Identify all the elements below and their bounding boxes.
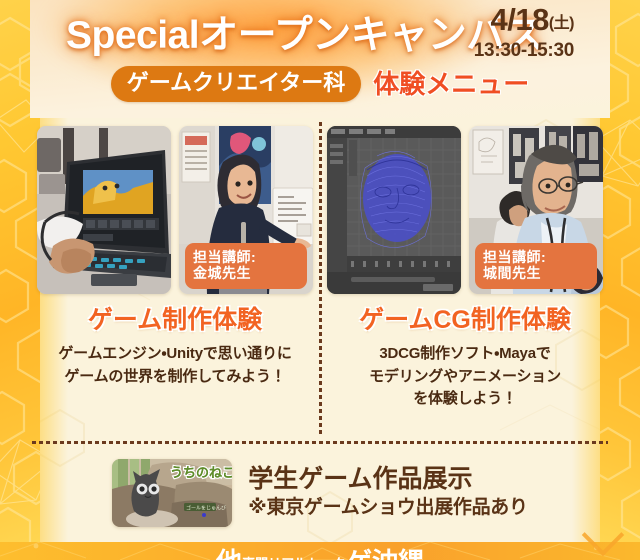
teacher-label-left: 担当講師: xyxy=(193,249,303,266)
cat-game-screenshot: うちのねこ うちのねこ ゴールをじゅんび xyxy=(112,459,232,527)
experience-cards: 担当講師: 金城先生 ゲーム制作体験 ゲームエンジン・Unityで思い通りに ゲ… xyxy=(30,120,610,438)
teacher-badge-left: 担当講師: 金城先生 xyxy=(185,243,307,289)
exhibit-text-block: 学生ゲーム作品展示 ※東京ゲームショウ出展作品あり xyxy=(248,466,527,520)
department-badge: ゲームクリエイター科 xyxy=(111,66,361,102)
event-date: 4/18(土) xyxy=(474,4,574,35)
laptop-game-editing-photo xyxy=(37,126,171,294)
exhibit-subtitle: ※東京ゲームショウ出展作品あり xyxy=(248,497,527,520)
event-day-of-week: (土) xyxy=(549,15,574,32)
card-game-cg-production: 担当講師: 城間先生 ゲームCG制作体験 3DCG制作ソフト・Mayaで モデリ… xyxy=(320,120,610,438)
card-desc-right-line3: を体験しよう！ xyxy=(369,388,561,411)
teacher-name-left: 金城先生 xyxy=(193,265,303,282)
bottom-orange-bar: 他専門リアルトークゲ沖縄 xyxy=(0,542,640,560)
card-title-left: ゲーム制作体験 xyxy=(88,308,262,333)
svg-text:ゴールをじゅんび: ゴールをじゅんび xyxy=(186,505,226,512)
instructor-kinjo-photo: 担当講師: 金城先生 xyxy=(179,126,313,294)
poster-root: Specialオープンキャンパス 4/18(土) 13:30-15:30 ゲーム… xyxy=(0,0,640,560)
card-desc-left-line1: ゲームエンジン・Unityで思い通りに xyxy=(58,343,291,366)
card-desc-left: ゲームエンジン・Unityで思い通りに ゲームの世界を制作してみよう！ xyxy=(58,343,291,388)
event-time: 13:30-15:30 xyxy=(474,40,574,62)
card-photo-group-left: 担当講師: 金城先生 xyxy=(37,126,313,294)
card-desc-right-line2: モデリングやアニメーション xyxy=(369,366,561,389)
maya-wireframe-head-photo xyxy=(327,126,461,294)
bottom-bar-text: 他専門リアルトークゲ沖縄 xyxy=(0,542,640,560)
student-exhibit-row: うちのねこ うちのねこ ゴールをじゅんび 学生ゲーム作品展示 ※東京ゲームショウ… xyxy=(30,452,610,534)
card-game-production: 担当講師: 金城先生 ゲーム制作体験 ゲームエンジン・Unityで思い通りに ゲ… xyxy=(30,120,320,438)
poster-header: Specialオープンキャンパス 4/18(土) 13:30-15:30 ゲーム… xyxy=(30,0,610,118)
horizontal-dotted-divider xyxy=(32,441,608,444)
svg-text:うちのねこ: うちのねこ xyxy=(170,466,232,481)
menu-heading: 体験メニュー xyxy=(373,71,529,97)
bottom-bar-text-tail: ゲ沖縄 xyxy=(346,547,424,560)
bottom-bar-text-main: 他 xyxy=(216,547,242,560)
teacher-name-right: 城間先生 xyxy=(483,265,593,282)
bottom-bar-text-small: 専門リアルトーク xyxy=(242,556,346,560)
card-title-right: ゲームCG制作体験 xyxy=(359,308,571,333)
instructor-shiroma-photo: 担当講師: 城間先生 xyxy=(469,126,603,294)
teacher-badge-right: 担当講師: 城間先生 xyxy=(475,243,597,289)
card-desc-right: 3DCG制作ソフト・Mayaで モデリングやアニメーション を体験しよう！ xyxy=(369,343,561,411)
card-photo-group-right: 担当講師: 城間先生 xyxy=(327,126,603,294)
page-title: Specialオープンキャンパス xyxy=(66,4,543,60)
header-badge-row: ゲームクリエイター科 体験メニュー xyxy=(30,66,610,102)
event-datetime: 4/18(土) 13:30-15:30 xyxy=(474,4,574,62)
card-desc-left-line2: ゲームの世界を制作してみよう！ xyxy=(58,366,291,389)
teacher-label-right: 担当講師: xyxy=(483,249,593,266)
card-desc-right-line1: 3DCG制作ソフト・Mayaで xyxy=(369,343,561,366)
exhibit-title: 学生ゲーム作品展示 xyxy=(248,466,527,492)
event-date-value: 4/18 xyxy=(490,2,548,37)
